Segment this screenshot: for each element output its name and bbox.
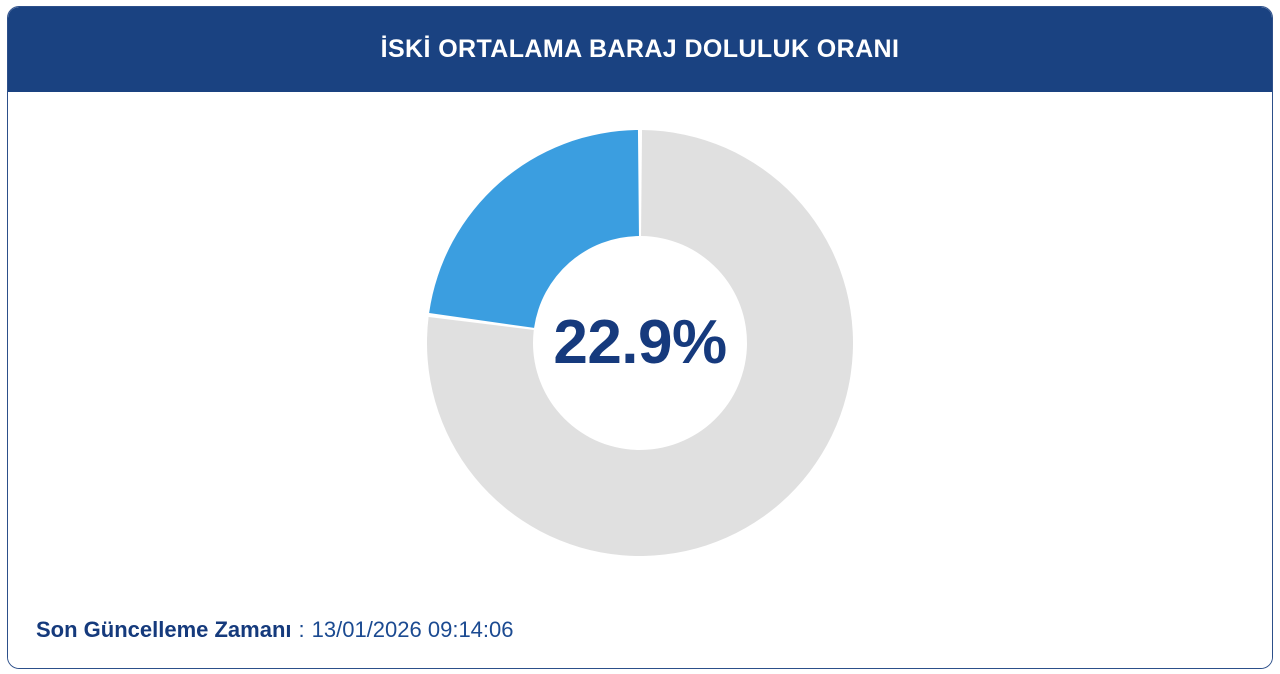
- page-title: İSKİ ORTALAMA BARAJ DOLULUK ORANI: [381, 35, 900, 64]
- dam-occupancy-widget: İSKİ ORTALAMA BARAJ DOLULUK ORANI 22.9% …: [0, 0, 1280, 674]
- dam-occupancy-card: İSKİ ORTALAMA BARAJ DOLULUK ORANI 22.9% …: [7, 6, 1273, 669]
- donut-svg: [426, 129, 854, 557]
- card-header: İSKİ ORTALAMA BARAJ DOLULUK ORANI: [8, 7, 1272, 92]
- last-update-value: 13/01/2026 09:14:06: [312, 617, 514, 643]
- last-update-separator: :: [292, 617, 312, 643]
- last-update-label: Son Güncelleme Zamanı: [36, 617, 292, 643]
- last-update-line: Son Güncelleme Zamanı : 13/01/2026 09:14…: [36, 617, 514, 643]
- card-body: 22.9% Son Güncelleme Zamanı : 13/01/2026…: [8, 92, 1272, 668]
- card-footer: Son Güncelleme Zamanı : 13/01/2026 09:14…: [8, 592, 1272, 668]
- donut-chart: 22.9%: [426, 129, 854, 557]
- chart-area: 22.9%: [8, 92, 1272, 594]
- donut-slice-doluluk[interactable]: [429, 130, 639, 328]
